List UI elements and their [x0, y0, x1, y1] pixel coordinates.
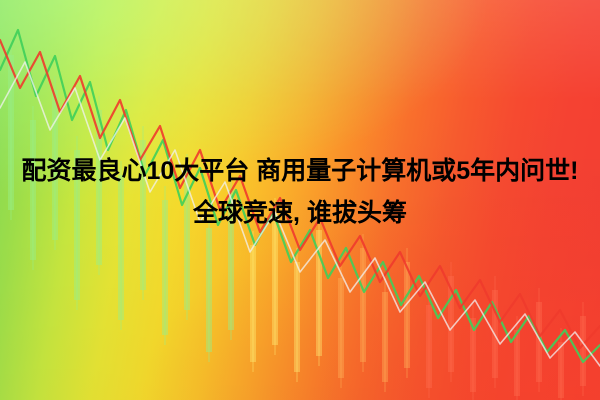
headline-line-2: 全球竞速, 谁拔头筹: [4, 192, 596, 234]
financial-banner-image: 配资最良心10大平台 商用量子计算机或5年内问世! 全球竞速, 谁拔头筹: [0, 0, 600, 400]
headline-line-1: 配资最良心10大平台 商用量子计算机或5年内问世!: [4, 150, 596, 192]
headline-overlay: 配资最良心10大平台 商用量子计算机或5年内问世! 全球竞速, 谁拔头筹: [0, 150, 600, 234]
